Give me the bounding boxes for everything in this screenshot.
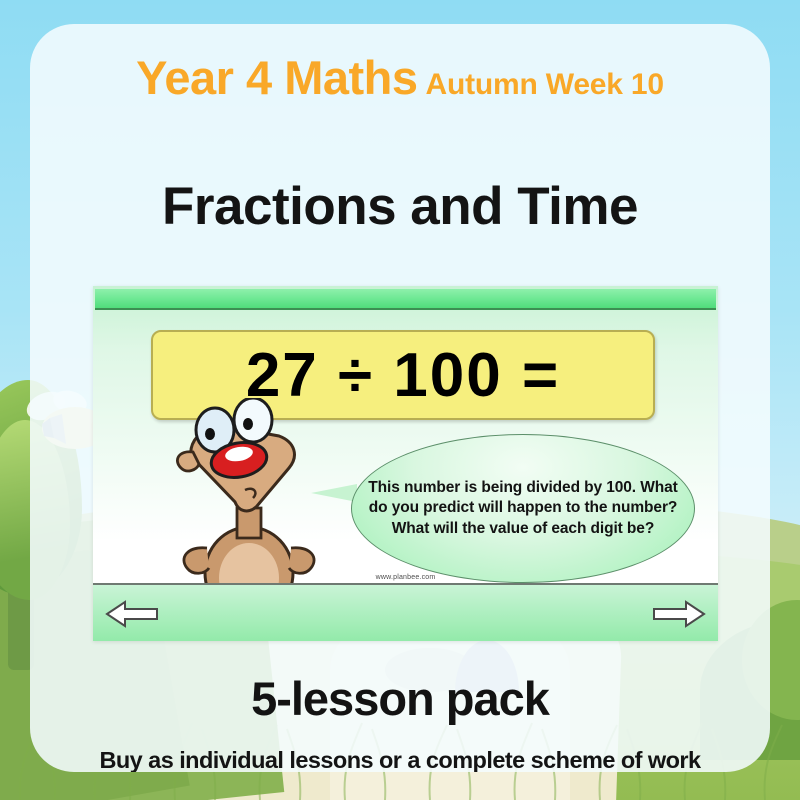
pack-subtitle: Buy as individual lessons or a complete … [30, 747, 770, 772]
slide-footer-bar [93, 583, 718, 641]
nav-forward-arrow-icon[interactable] [652, 599, 706, 629]
header-main-title: Year 4 Maths [136, 51, 417, 104]
page-title: Fractions and Time [30, 176, 770, 237]
header: Year 4 MathsAutumn Week 10 [30, 50, 770, 105]
speech-bubble: This number is being divided by 100. Wha… [351, 434, 695, 583]
watermark-text: www.planbee.com [93, 574, 718, 581]
pack-title: 5-lesson pack [30, 671, 770, 726]
nav-back-arrow-icon[interactable] [105, 599, 159, 629]
speech-bubble-tail [311, 484, 357, 502]
slide-preview[interactable]: 27 ÷ 100 = [93, 286, 718, 641]
content-card: Year 4 MathsAutumn Week 10 Fractions and… [30, 24, 770, 772]
speech-bubble-text: This number is being divided by 100. Wha… [352, 478, 694, 538]
header-sub-title: Autumn Week 10 [426, 68, 664, 101]
promo-card-root: Year 4 MathsAutumn Week 10 Fractions and… [0, 0, 800, 800]
slide-top-bar [95, 289, 716, 310]
